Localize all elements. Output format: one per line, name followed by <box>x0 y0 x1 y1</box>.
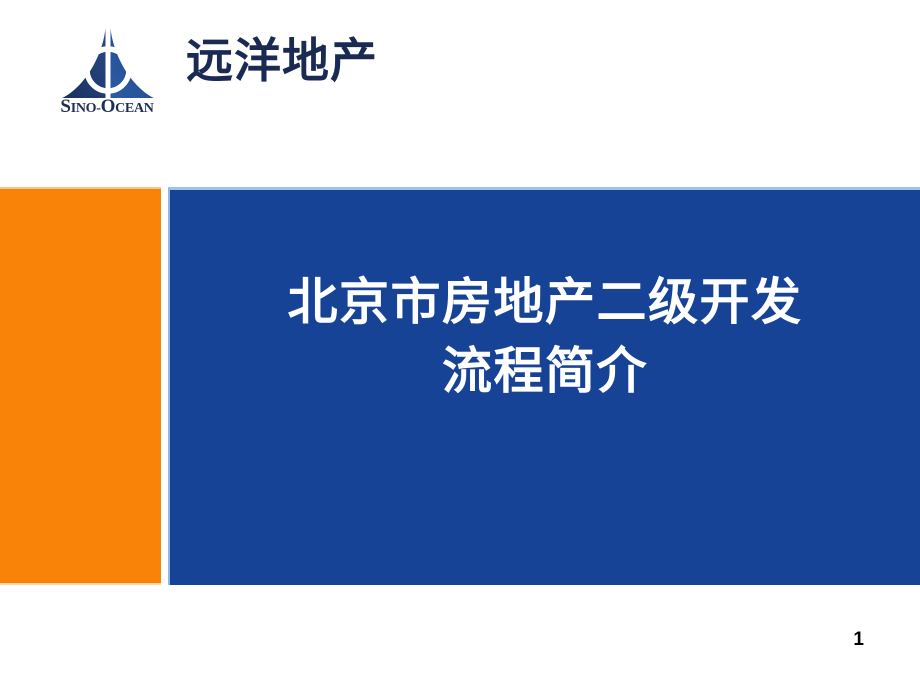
sino-ocean-wordmark: SINO-OCEAN <box>44 96 170 118</box>
wordmark-ino: INO- <box>71 101 101 116</box>
sino-ocean-logo: SINO-OCEAN <box>44 26 170 130</box>
wordmark-s: S <box>60 96 70 117</box>
brand-name-zh: 远洋地产 <box>186 38 378 85</box>
sail-logo-icon <box>60 26 156 100</box>
wordmark-cean: CEAN <box>115 101 153 116</box>
accent-block-orange <box>0 187 161 585</box>
page-number: 1 <box>853 630 864 649</box>
brand-lockup: SINO-OCEAN 远洋地产 <box>44 26 378 130</box>
brand-header: SINO-OCEAN 远洋地产 <box>0 0 920 187</box>
wordmark-o: O <box>101 96 115 117</box>
page-title: 北京市房地产二级开发 流程简介 <box>170 268 920 406</box>
slide-canvas: SINO-OCEAN 远洋地产 北京市房地产二级开发 流程简介 1 <box>0 0 920 690</box>
title-panel: 北京市房地产二级开发 流程简介 <box>168 187 920 585</box>
